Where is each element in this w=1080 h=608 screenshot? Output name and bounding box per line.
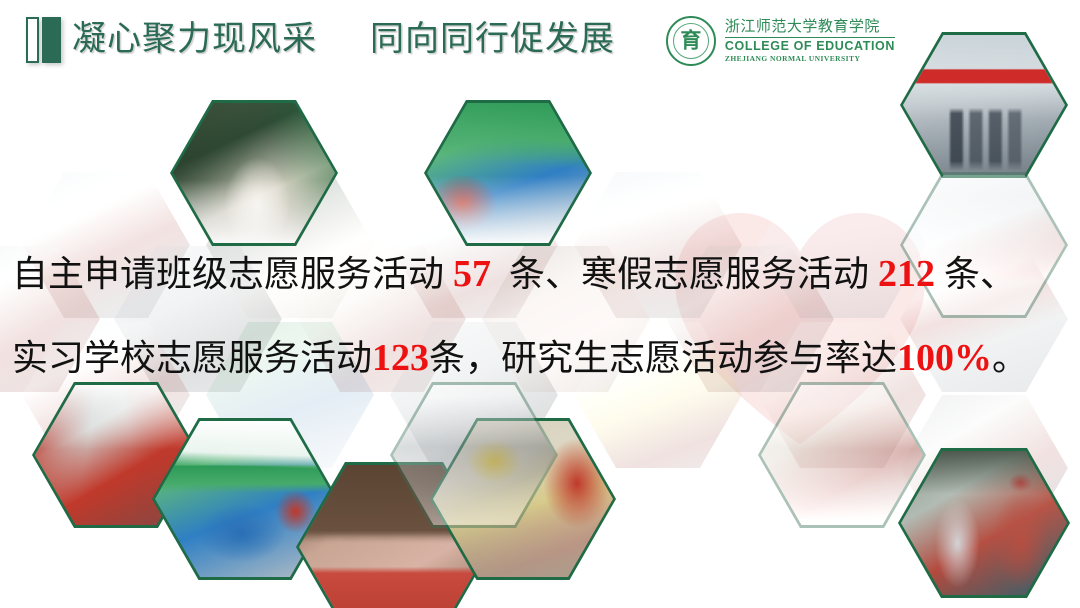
line2-seg1: 实习学校志愿服务活动 — [12, 338, 372, 378]
line2-number-100pct: 100% — [897, 337, 992, 379]
page-title: 凝心聚力现风采 同向同行促发展 — [72, 16, 615, 64]
university-seal-icon: 育 — [666, 16, 716, 66]
body-line-1: 自主申请班级志愿服务活动57条、寒假志愿服务活动212条、 — [12, 232, 1068, 316]
line1-number-57: 57 — [453, 253, 491, 295]
line1-seg2: 条、寒假志愿服务活动 — [509, 254, 869, 294]
seal-glyph: 育 — [668, 31, 714, 52]
slide-root: 凝心聚力现风采 同向同行促发展 育 浙江师范大学教育学院 COLLEGE OF … — [0, 0, 1080, 608]
logo-english-university: ZHEJIANG NORMAL UNIVERSITY — [725, 54, 895, 64]
page-title-left: 凝心聚力现风采 — [72, 21, 317, 58]
book-mark-icon — [26, 17, 62, 63]
line1-seg1: 自主申请班级志愿服务活动 — [12, 254, 444, 294]
logo-english-college: COLLEGE OF EDUCATION — [725, 39, 895, 54]
line1-number-212: 212 — [878, 253, 935, 295]
slide-body-text: 自主申请班级志愿服务活动57条、寒假志愿服务活动212条、 实习学校志愿服务活动… — [0, 232, 1080, 400]
line2-seg2: 条，研究生志愿活动参与率达 — [429, 338, 897, 378]
logo-chinese-name: 浙江师范大学教育学院 — [725, 18, 895, 38]
page-title-right: 同向同行促发展 — [370, 21, 615, 58]
body-line-2: 实习学校志愿服务活动123条，研究生志愿活动参与率达100%。 — [12, 316, 1068, 400]
logo-wordmark: 浙江师范大学教育学院 COLLEGE OF EDUCATION ZHEJIANG… — [725, 18, 895, 64]
university-logo: 育 浙江师范大学教育学院 COLLEGE OF EDUCATION ZHEJIA… — [666, 14, 895, 68]
line1-seg3: 条、 — [944, 254, 1016, 294]
line2-number-123: 123 — [372, 337, 429, 379]
slide-header: 凝心聚力现风采 同向同行促发展 育 浙江师范大学教育学院 COLLEGE OF … — [0, 0, 1080, 82]
line2-seg3: 。 — [992, 338, 1028, 378]
